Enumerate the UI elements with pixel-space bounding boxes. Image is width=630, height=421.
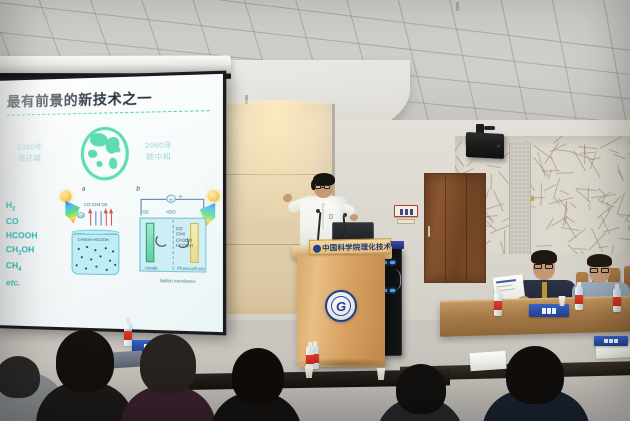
gas-arrow [90, 211, 91, 225]
attendee-eyeglasses [590, 268, 598, 273]
electron-label: e- [179, 194, 183, 200]
attendee-eyeglasses [601, 268, 609, 273]
membrane-label: Nafion membrane [160, 278, 196, 284]
cathode-label: Photocathode [177, 266, 205, 272]
diagram-panel-b: b e e- O2 H2O CO CH4 CH3OH HCOOH Anode [134, 188, 221, 290]
carbon-neutral-year: 2060年 [145, 140, 173, 150]
formula-ch3oh: CH3OH [6, 243, 38, 260]
formula-etc: etc. [6, 276, 38, 291]
rack-cable [391, 269, 401, 291]
attendee-eyeglasses [545, 264, 553, 269]
ceiling-fixture-stem [456, 2, 459, 11]
presentation-slide: 最有前景的新技术之一 2030年 碳达峰 2060年 碳中和 [0, 74, 223, 332]
conference-room-photo: 最有前景的新技术之一 2030年 碳达峰 2060年 碳中和 [0, 0, 630, 421]
institute-emblem: G [325, 290, 357, 322]
water-bottle[interactable] [494, 292, 502, 316]
water-bottle[interactable] [124, 322, 132, 346]
door-handle[interactable] [428, 226, 430, 237]
circuit-wire [141, 199, 142, 216]
water-bottle[interactable] [575, 286, 583, 310]
podium-banner: 中国科学院理化技术研究所 [309, 238, 391, 255]
carbon-peak-year: 2030年 [17, 142, 43, 151]
attendee-hair [587, 254, 612, 267]
gas-arrow [95, 211, 96, 225]
sunlight-icon [208, 190, 220, 202]
attendee-eyeglasses [534, 264, 542, 269]
sunlight-icon [60, 191, 71, 202]
arrow-head [88, 208, 92, 213]
emergency-notice-sign [394, 205, 418, 217]
formula-co: CO [6, 215, 38, 229]
speaker-mount-arm [484, 126, 495, 130]
arrow-head [104, 208, 108, 213]
podium-banner-text: 中国科学院理化技术研究所 [322, 241, 391, 254]
projection-screen: 最有前景的新技术之一 2030年 碳达峰 2060年 碳中和 [0, 71, 226, 336]
carbon-peak-caption: 碳达峰 [18, 153, 42, 162]
diagram-panel-a: a CO CH4 O2 CO CH3OH HCOOH [59, 189, 130, 284]
speaker-shirt-placket [322, 203, 324, 229]
arrow-head [109, 208, 113, 213]
delegate-nameplate [594, 336, 628, 346]
wall-mounted-loudspeaker [466, 132, 504, 159]
earth-globe-icon [81, 126, 129, 180]
sign-subtext-plate [397, 219, 415, 224]
institute-logo-icon [313, 244, 321, 252]
oxygen-label: O2 [143, 209, 149, 214]
gas-arrow [106, 211, 107, 225]
attendee-tie [542, 282, 547, 298]
rack-led [390, 261, 395, 264]
water-bottle[interactable] [613, 288, 621, 312]
water-label: H2O [166, 209, 175, 215]
perforated-acoustic-panel [509, 142, 531, 254]
panel-b-label: b [136, 186, 140, 192]
slide-divider [7, 110, 210, 116]
carbon-peak-label: 2030年 碳达峰 [17, 142, 43, 164]
reaction-arrow [177, 236, 189, 248]
anode-label: Anode [145, 265, 158, 271]
attendee-hair [531, 250, 557, 264]
gas-labels-a: CO CH4 O2 [84, 202, 107, 207]
carbon-neutral-caption: 碳中和 [146, 152, 171, 162]
speaker-driver-dot [497, 145, 500, 148]
emblem-letter: G [331, 296, 351, 316]
audience-document [469, 351, 506, 371]
formula-h2: H2 [6, 199, 38, 216]
panel-a-label: a [82, 187, 85, 193]
product-formula-list: H2 CO HCOOH CH3OH CH4 etc. [6, 199, 38, 291]
vessel-label-a: CH3OH HCOOH [78, 237, 109, 242]
gas-arrow [101, 211, 102, 225]
power-source-icon: e [166, 195, 176, 203]
speaker-eyeglasses [324, 185, 330, 189]
formula-hcooh: HCOOH [6, 229, 38, 243]
formula-ch4: CH4 [6, 260, 38, 277]
slide-title: 最有前景的新技术之一 [7, 86, 152, 110]
anode-electrode [146, 223, 155, 263]
microphone-head [343, 213, 347, 217]
speaker-badge [329, 214, 333, 219]
wooden-door[interactable] [424, 173, 486, 283]
gas-arrow [111, 211, 112, 225]
carbon-neutral-label: 2060年 碳中和 [145, 140, 173, 163]
speaker-right-hand [350, 214, 358, 221]
eyeglasses-bridge [321, 187, 324, 188]
reaction-arrow [155, 234, 168, 247]
gas-bubble: CO [77, 212, 85, 218]
microphone-head [316, 209, 320, 213]
membrane-line [173, 220, 174, 270]
